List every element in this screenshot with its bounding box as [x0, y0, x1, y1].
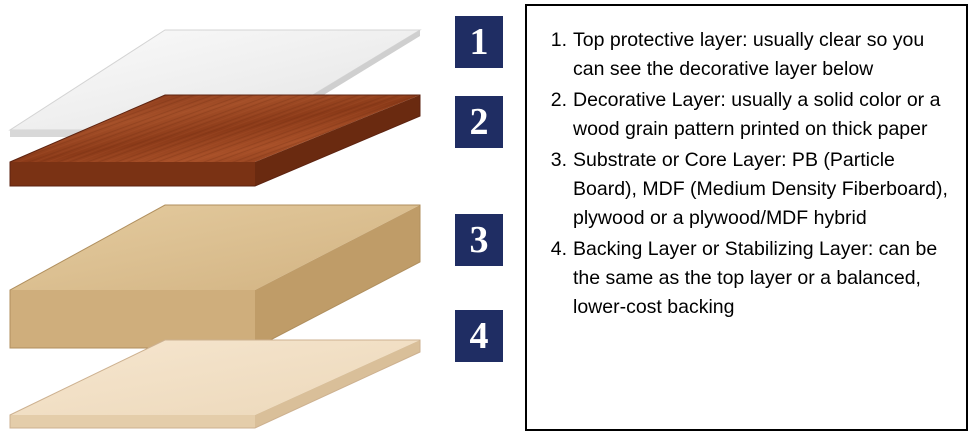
legend-item-1: Top protective layer: usually clear so y…: [573, 26, 952, 84]
badge-4: 4: [455, 310, 503, 362]
legend-item-3: Substrate or Core Layer: PB (Particle Bo…: [573, 146, 952, 233]
layer-4-backing: [10, 340, 420, 428]
legend-box: Top protective layer: usually clear so y…: [525, 4, 968, 431]
legend-item-4: Backing Layer or Stabilizing Layer: can …: [573, 235, 952, 322]
badge-3: 3: [455, 214, 503, 266]
laminate-layers-illustration: [0, 0, 520, 437]
legend-list: Top protective layer: usually clear so y…: [527, 6, 966, 322]
badge-1: 1: [455, 16, 503, 68]
layer-3-substrate-core: [10, 205, 420, 348]
legend-item-2: Decorative Layer: usually a solid color …: [573, 86, 952, 144]
badge-2: 2: [455, 96, 503, 148]
diagram-canvas: 1 2 3 4 Top protective layer: usually cl…: [0, 0, 972, 437]
